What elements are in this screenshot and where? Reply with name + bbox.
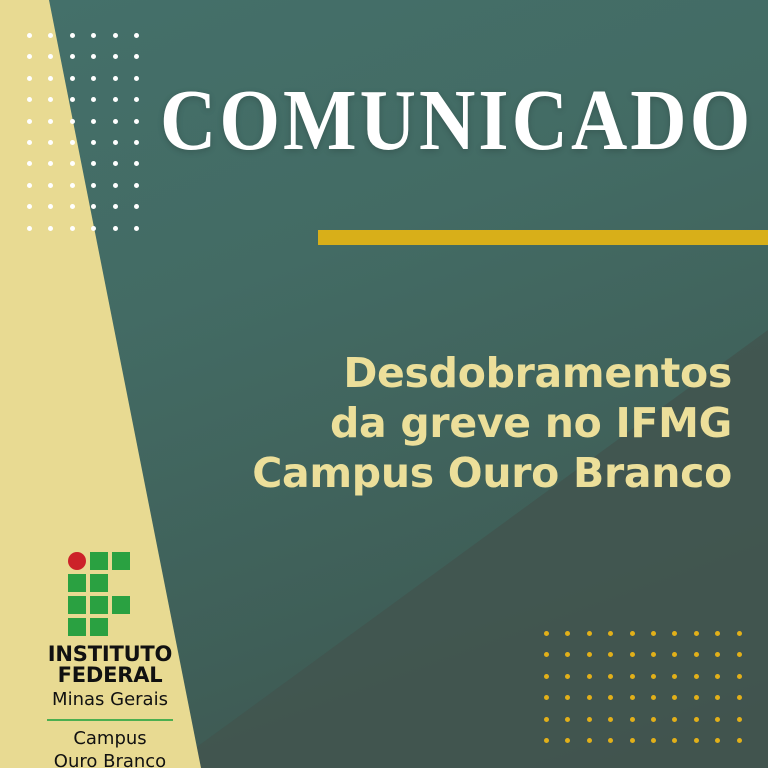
logo-cell xyxy=(68,574,86,592)
logo-cell-red-dot xyxy=(68,552,86,570)
logo-divider-line xyxy=(47,719,173,721)
logo-wordmark: INSTITUTO FEDERAL xyxy=(30,644,190,686)
logo-cell xyxy=(90,552,108,570)
gold-divider-bar xyxy=(318,230,768,245)
logo-campus-block: Campus Ouro Branco xyxy=(30,727,190,768)
logo-cell xyxy=(112,552,130,570)
logo-cell xyxy=(90,596,108,614)
page-title: COMUNICADO xyxy=(160,76,746,163)
logo-cell xyxy=(90,618,108,636)
subtitle-line-3: Campus Ouro Branco xyxy=(212,448,732,498)
logo-campus-label: Campus xyxy=(30,727,190,750)
ifmg-logo-mark-icon xyxy=(68,552,152,636)
logo-instituto-text: INSTITUTO xyxy=(30,644,190,665)
logo-cell xyxy=(68,596,86,614)
logo-cell xyxy=(112,596,130,614)
poster-subtitle: Desdobramentos da greve no IFMG Campus O… xyxy=(212,348,732,498)
logo-cell xyxy=(90,574,108,592)
subtitle-line-1: Desdobramentos xyxy=(212,348,732,398)
ifmg-logo: INSTITUTO FEDERAL Minas Gerais Campus Ou… xyxy=(30,552,190,768)
logo-cell xyxy=(68,618,86,636)
logo-campus-name: Ouro Branco xyxy=(30,750,190,768)
logo-federal-text: FEDERAL xyxy=(30,665,190,686)
comunicado-poster: COMUNICADO Desdobramentos da greve no IF… xyxy=(0,0,768,768)
logo-state-text: Minas Gerais xyxy=(30,689,190,712)
subtitle-line-2: da greve no IFMG xyxy=(212,398,732,448)
